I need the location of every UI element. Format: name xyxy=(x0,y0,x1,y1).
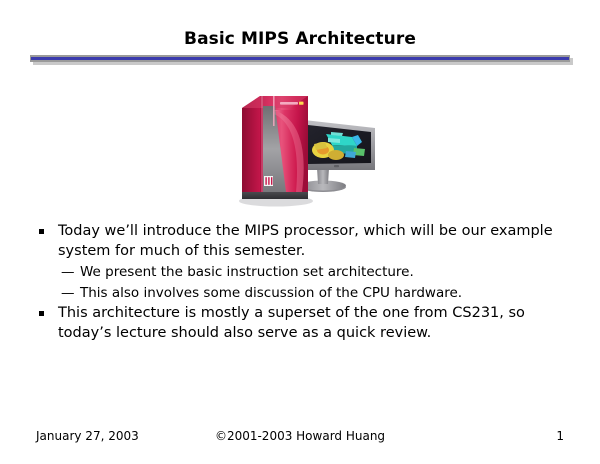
tower-graphic xyxy=(239,96,313,207)
bullet-item: This architecture is mostly a superset o… xyxy=(36,304,576,343)
sgi-logo xyxy=(264,176,273,186)
en-dash-icon: — xyxy=(61,284,75,304)
footer-page-number: 1 xyxy=(556,428,564,444)
sub-bullet-text: This also involves some discussion of th… xyxy=(80,285,462,301)
divider-accent-line xyxy=(31,57,569,60)
sgi-workstation-photo xyxy=(228,84,378,210)
square-bullet-icon xyxy=(39,311,44,316)
bullet-item: Today we’ll introduce the MIPS processor… xyxy=(36,222,576,261)
en-dash-icon: — xyxy=(61,263,75,283)
title-divider-rule xyxy=(30,55,570,63)
page-title: Basic MIPS Architecture xyxy=(0,28,600,50)
footer-copyright: ©2001-2003 Howard Huang xyxy=(36,428,564,444)
square-bullet-icon xyxy=(39,229,44,234)
sub-bullet-item: — We present the basic instruction set a… xyxy=(36,263,576,283)
sub-bullet-text: We present the basic instruction set arc… xyxy=(80,264,414,280)
tower-brand-strip xyxy=(280,102,304,105)
bullet-text: Today we’ll introduce the MIPS processor… xyxy=(58,223,553,259)
bullet-text: This architecture is mostly a superset o… xyxy=(58,305,525,341)
slide-body: Today we’ll introduce the MIPS processor… xyxy=(36,222,576,345)
sub-bullet-item: — This also involves some discussion of … xyxy=(36,284,576,304)
monitor-graphic xyxy=(300,120,375,192)
